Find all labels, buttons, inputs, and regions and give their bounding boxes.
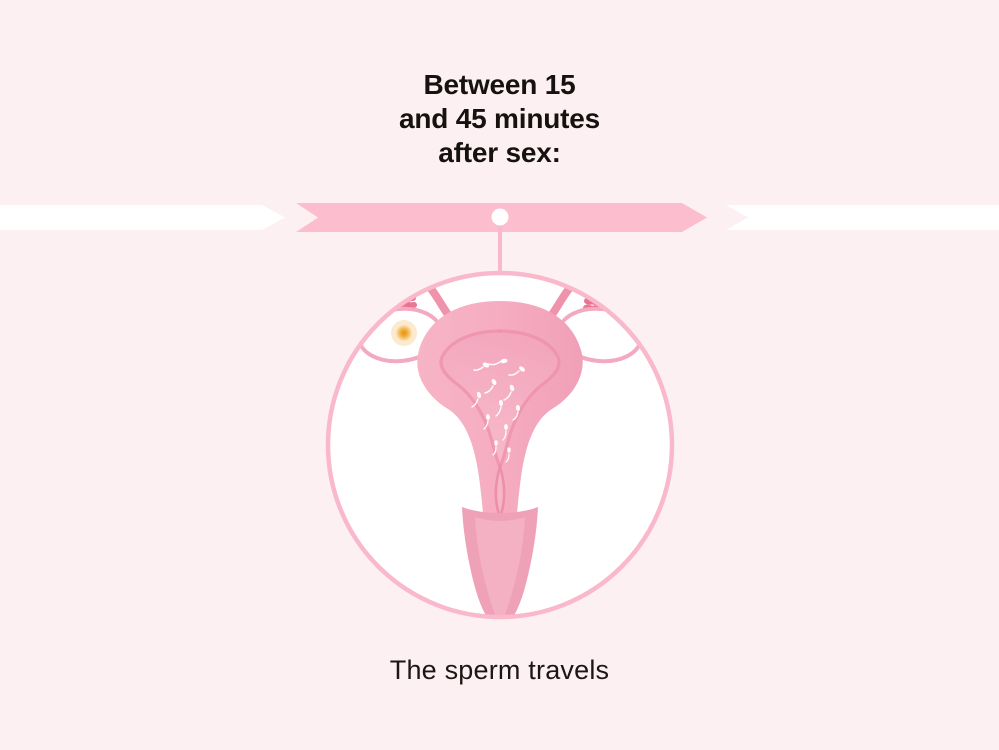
page-title: Between 15 and 45 minutes after sex: <box>0 68 999 170</box>
title-line-2: and 45 minutes <box>0 102 999 136</box>
egg-follicle <box>396 325 412 341</box>
timeline-marker-dot[interactable] <box>492 209 509 226</box>
title-line-3: after sex: <box>0 136 999 170</box>
title-line-1: Between 15 <box>0 68 999 102</box>
uterus-illustration <box>300 245 700 645</box>
infographic-canvas: Between 15 and 45 minutes after sex: <box>0 0 999 750</box>
timeline-segment-past[interactable] <box>0 205 285 230</box>
caption-text: The sperm travels <box>0 655 999 686</box>
cervical-canal <box>496 467 504 517</box>
timeline-segment-future[interactable] <box>726 205 999 230</box>
